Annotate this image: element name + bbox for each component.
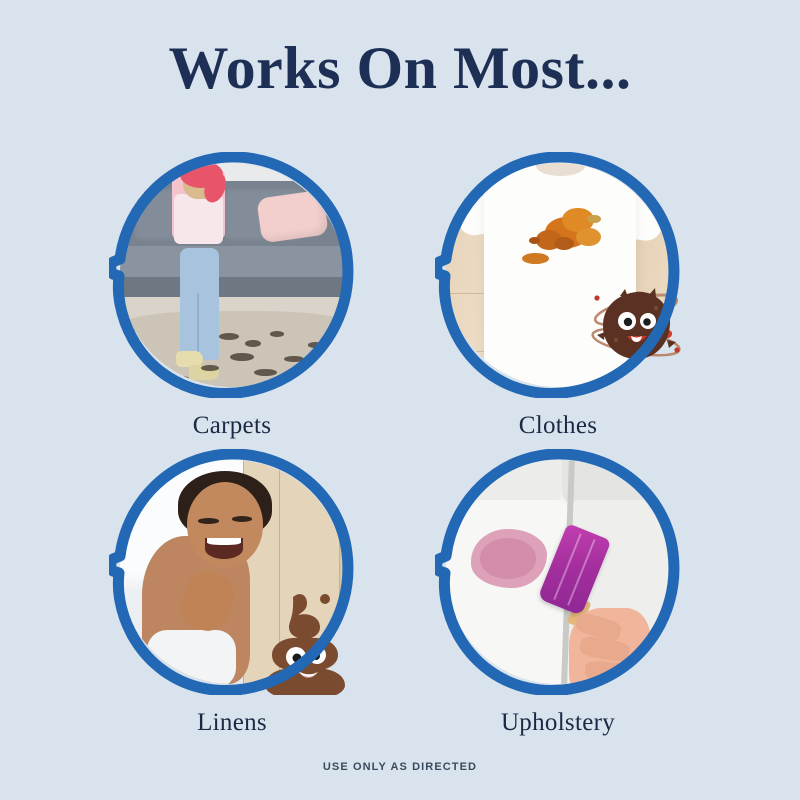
photo-circle-clothes[interactable] [435, 152, 681, 398]
page-title: Works On Most... [0, 38, 800, 98]
category-card-clothes[interactable]: Clothes [408, 152, 708, 440]
category-card-linens[interactable]: Linens [82, 449, 382, 737]
scene-carpet [120, 163, 344, 387]
category-label-carpets: Carpets [82, 412, 382, 440]
photo-carpets [120, 163, 344, 387]
category-card-upholstery[interactable]: Upholstery [408, 449, 708, 737]
category-label-clothes: Clothes [408, 412, 708, 440]
photo-circle-upholstery[interactable] [435, 449, 681, 695]
scene-upholstery [446, 460, 670, 684]
poop-emoji-icon [259, 591, 351, 695]
category-label-linens: Linens [82, 709, 382, 737]
photo-circle-carpets[interactable] [109, 152, 355, 398]
category-card-carpets[interactable]: Carpets [82, 152, 382, 440]
category-label-upholstery: Upholstery [408, 709, 708, 737]
footer-disclaimer: USE ONLY AS DIRECTED [0, 761, 800, 773]
photo-upholstery [446, 460, 670, 684]
dizzy-stain-blob-icon [587, 280, 685, 372]
photo-circle-linens[interactable] [109, 449, 355, 695]
